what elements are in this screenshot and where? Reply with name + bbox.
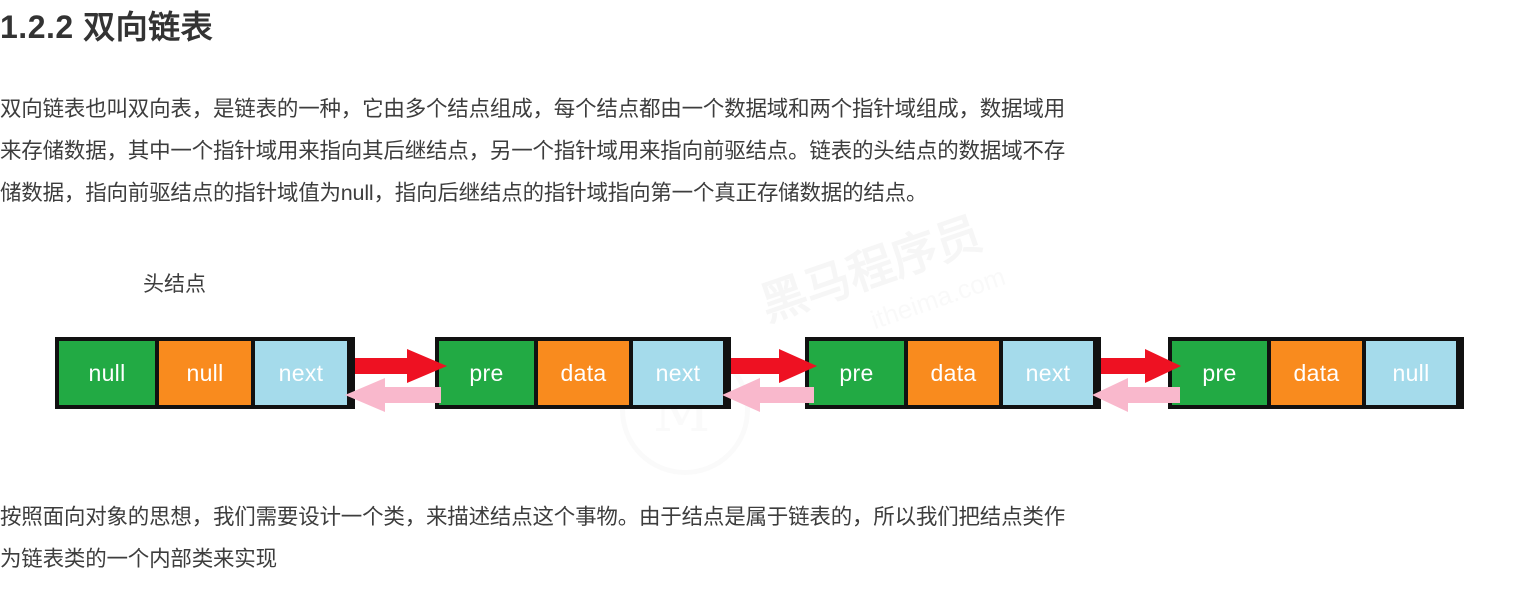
intro-line-2: 来存储数据，其中一个指针域用来指向其后继结点，另一个指针域用来指向前驱结点。链表… xyxy=(0,130,1514,172)
node-2: pre data next xyxy=(805,337,1101,409)
pre-pointer-arrow-1 xyxy=(722,376,814,416)
tail-node-pre-cell: pre xyxy=(1172,341,1267,405)
node-1-pre-cell: pre xyxy=(439,341,534,405)
node-1-next-cell: next xyxy=(629,341,723,405)
intro-line-1: 双向链表也叫双向表，是链表的一种，它由多个结点组成，每个结点都由一个数据域和两个… xyxy=(0,88,1514,130)
head-node-next-cell: next xyxy=(251,341,347,405)
intro-line-3: 储数据，指向前驱结点的指针域值为null，指向后继结点的指针域指向第一个真正存储… xyxy=(0,172,1514,214)
node-2-next-cell: next xyxy=(999,341,1093,405)
pre-pointer-arrow-2 xyxy=(1092,376,1180,416)
outro-paragraph: 按照面向对象的思想，我们需要设计一个类，来描述结点这个事物。由于结点是属于链表的… xyxy=(0,496,1514,580)
head-node: null null next xyxy=(55,337,355,409)
node-2-pre-cell: pre xyxy=(809,341,904,405)
node-1-data-cell: data xyxy=(534,341,629,405)
intro-paragraph: 双向链表也叫双向表，是链表的一种，它由多个结点组成，每个结点都由一个数据域和两个… xyxy=(0,88,1514,214)
tail-node: pre data null xyxy=(1168,337,1464,409)
node-1: pre data next xyxy=(435,337,731,409)
page-title: 1.2.2 双向链表 xyxy=(0,2,213,48)
node-2-data-cell: data xyxy=(904,341,999,405)
pre-pointer-arrow-0 xyxy=(345,376,441,416)
tail-node-next-cell: null xyxy=(1362,341,1456,405)
tail-node-data-cell: data xyxy=(1267,341,1362,405)
outro-line-1: 按照面向对象的思想，我们需要设计一个类，来描述结点这个事物。由于结点是属于链表的… xyxy=(0,496,1514,538)
head-node-label: 头结点 xyxy=(143,268,206,298)
outro-line-2: 为链表类的一个内部类来实现 xyxy=(0,538,1514,580)
head-node-pre-cell: null xyxy=(59,341,155,405)
head-node-data-cell: null xyxy=(155,341,251,405)
doubly-linked-list-diagram: 头结点 null null next pre data next pre dat… xyxy=(0,250,1514,450)
